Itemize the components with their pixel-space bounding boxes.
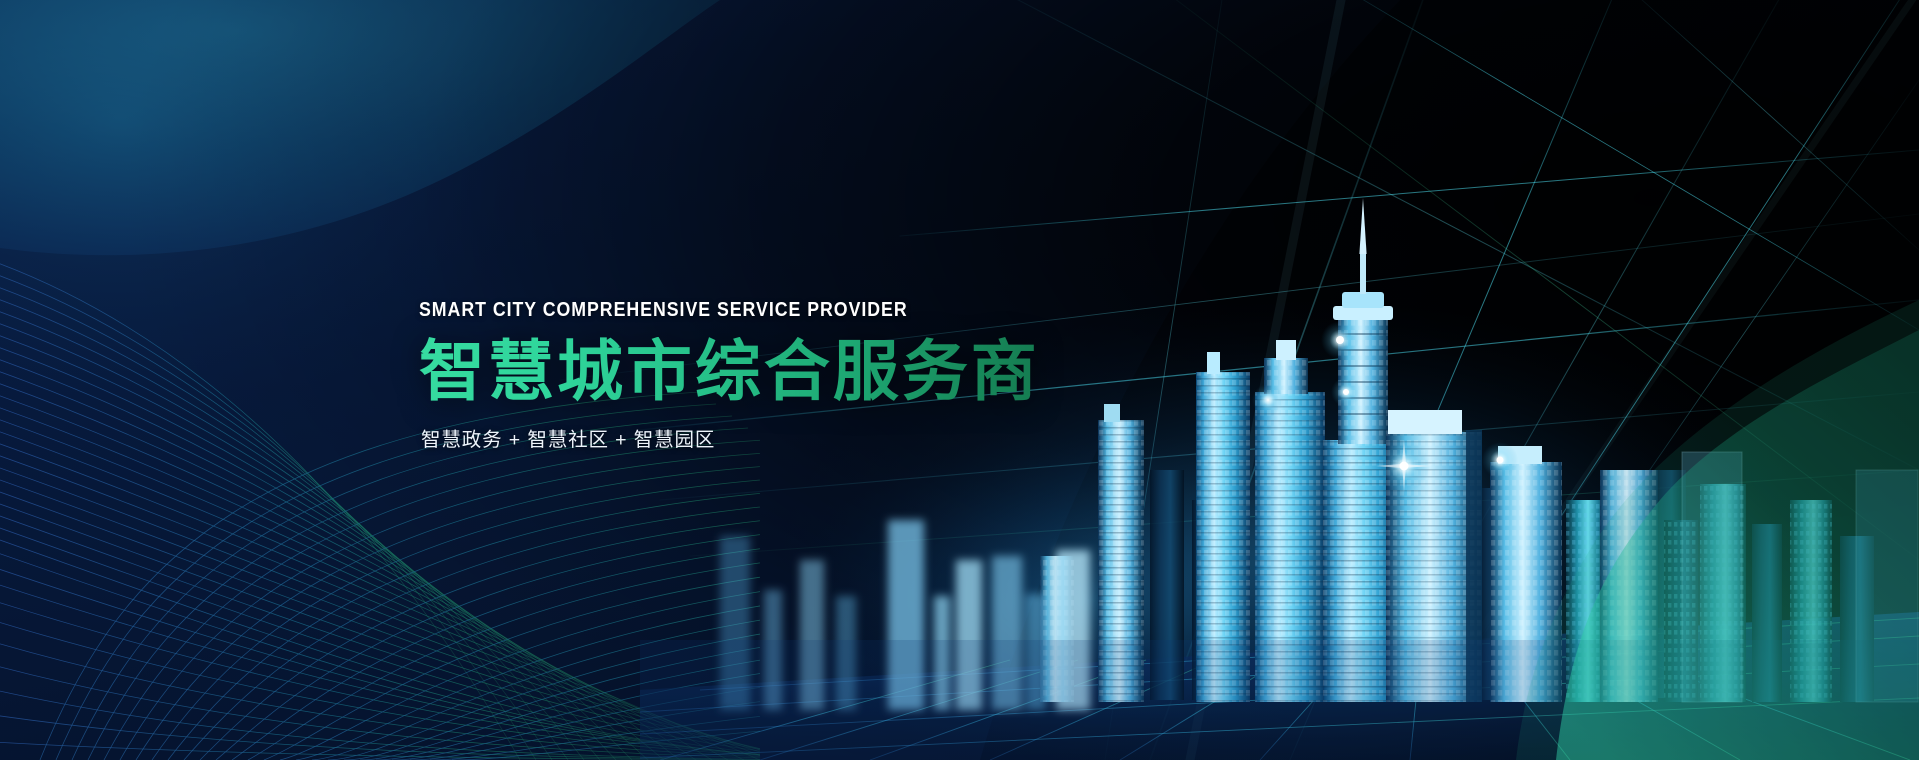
hero-text-block: SMART CITY COMPREHENSIVE SERVICE PROVIDE… (419, 300, 1059, 452)
tower-cluster-right (1482, 442, 1874, 702)
hero-eyebrow: SMART CITY COMPREHENSIVE SERVICE PROVIDE… (419, 300, 973, 321)
main-spire-tower (1321, 198, 1402, 702)
glass-slabs-right (1682, 452, 1918, 702)
tower-tiered (1252, 340, 1325, 702)
hero-subtitle: 智慧政务 + 智慧社区 + 智慧园区 (421, 423, 1059, 452)
ground-grid (640, 612, 1919, 760)
hero-headline: 智慧城市综合服务商 (419, 337, 1059, 407)
hero-banner: SMART CITY COMPREHENSIVE SERVICE PROVIDE… (0, 0, 1919, 760)
tower-bright-box (1376, 410, 1482, 702)
tower-cluster-left (1040, 352, 1332, 702)
foreground-blocks (720, 520, 1090, 710)
